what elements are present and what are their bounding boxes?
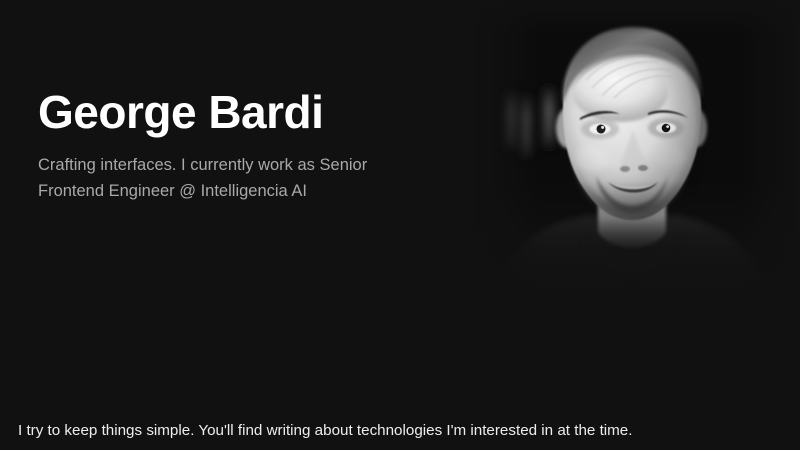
background-light-bars [506,88,554,158]
hero-subtitle: Crafting interfaces. I currently work as… [38,152,423,205]
page-title: George Bardi [38,88,468,138]
portrait-photo-container [470,0,800,300]
hero-intro: George Bardi Crafting interfaces. I curr… [38,88,468,205]
portrait-photo [470,0,800,300]
page-root: George Bardi Crafting interfaces. I curr… [0,0,800,450]
footer-tagline: I try to keep things simple. You'll find… [18,420,632,441]
